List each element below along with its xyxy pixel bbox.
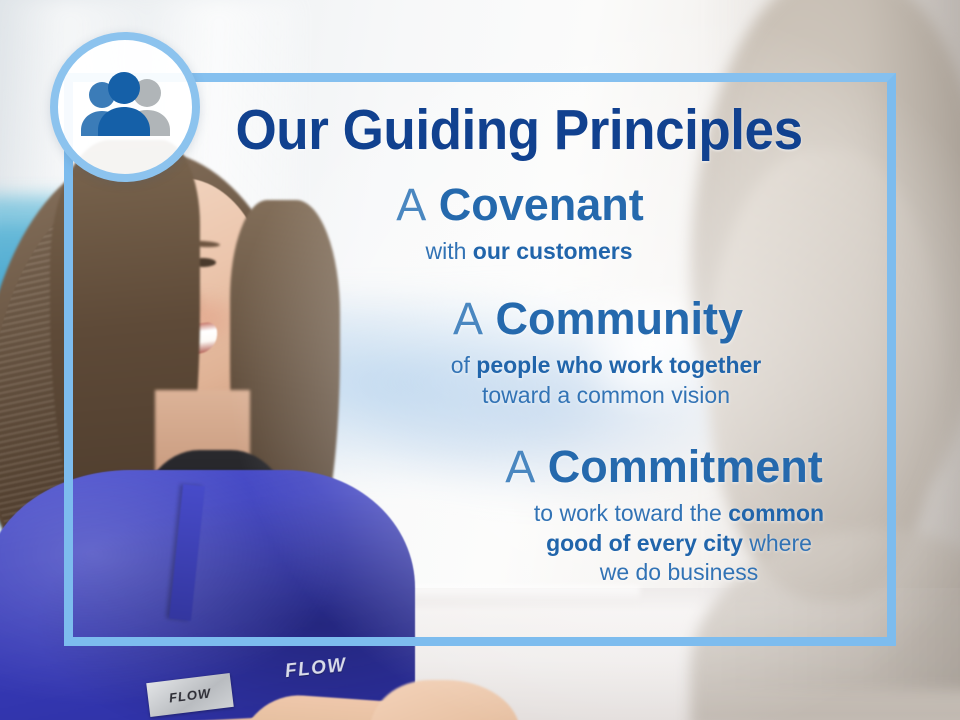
principle-community-subtitle-line-1: of people who work together (198, 351, 960, 380)
principle-commitment-subtitle-line-1: to work toward the common (278, 499, 960, 528)
principle-covenant-subtitle: with our customers (104, 237, 936, 266)
text-segment-bold: good of every city (546, 530, 743, 556)
principle-community-subtitle: of people who work together toward a com… (182, 351, 960, 410)
principle-commitment-word: Commitment (548, 441, 823, 492)
principle-community-subtitle-line-2: toward a common vision (198, 381, 960, 410)
principle-community-word: Community (496, 293, 744, 344)
text-content: Our Guiding Principles A Covenant with o… (64, 73, 896, 646)
principle-covenant: A Covenant with our customers (64, 181, 936, 267)
text-segment: where (743, 530, 812, 556)
text-segment-bold: common (728, 500, 824, 526)
principle-covenant-word: Covenant (439, 179, 644, 230)
name-badge-text: FLOW (168, 685, 212, 705)
principle-community: A Community of people who work together … (64, 295, 960, 410)
text-segment-bold: our customers (473, 238, 633, 264)
principle-commitment-article: A (505, 441, 535, 492)
principle-commitment-subtitle-line-3: we do business (278, 558, 960, 587)
text-segment-bold: people who work together (476, 352, 761, 378)
principle-covenant-article: A (396, 179, 426, 230)
principle-community-headline: A Community (182, 295, 960, 342)
text-segment: with (425, 238, 472, 264)
text-segment: to work toward the (534, 500, 728, 526)
principle-covenant-subtitle-line-1: with our customers (122, 237, 936, 266)
page-title: Our Guiding Principles (93, 101, 867, 159)
text-segment: of (451, 352, 477, 378)
principle-community-article: A (453, 293, 483, 344)
principle-covenant-headline: A Covenant (104, 181, 936, 228)
principle-commitment-subtitle-line-2: good of every city where (278, 529, 960, 558)
principle-commitment-subtitle: to work toward the common good of every … (248, 499, 960, 587)
principle-commitment: A Commitment to work toward the common g… (64, 443, 960, 588)
principle-commitment-headline: A Commitment (248, 443, 960, 490)
guiding-principles-graphic: FLOW FLOW (0, 0, 960, 720)
